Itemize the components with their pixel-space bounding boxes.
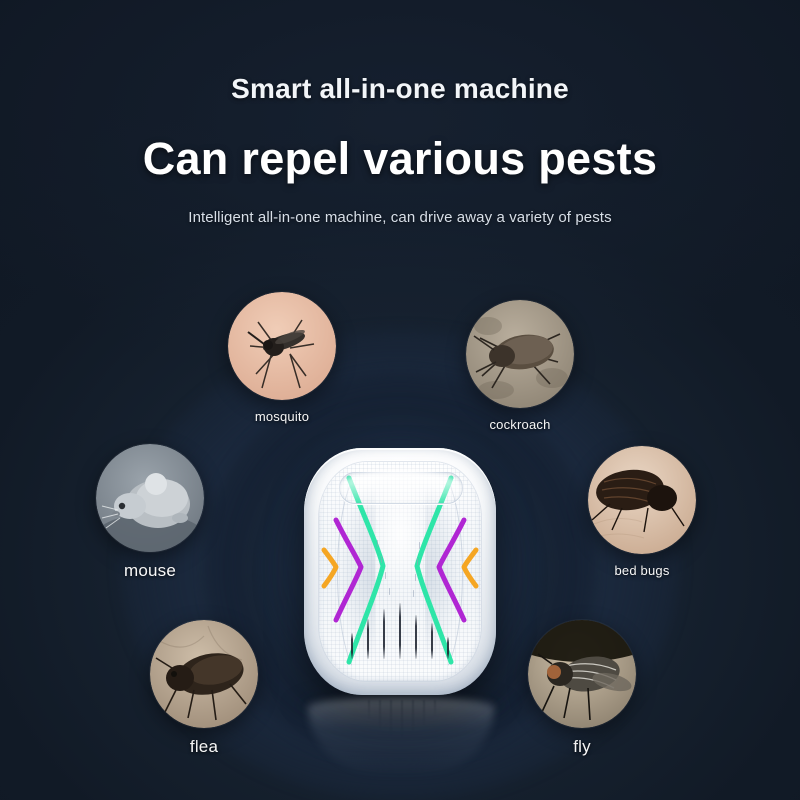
- device-face: [319, 462, 481, 681]
- flea-photo-icon: [150, 620, 258, 728]
- status-dash: [389, 588, 390, 595]
- reflected-vent-slit: [412, 700, 414, 732]
- pest-item-cockroach[interactable]: cockroach: [466, 300, 574, 432]
- vent-slit: [367, 619, 369, 659]
- reflection-vent: [368, 700, 436, 746]
- speaker-vent: [351, 601, 449, 659]
- status-dash: [413, 590, 414, 597]
- pest-item-mouse[interactable]: mouse: [96, 444, 204, 581]
- pest-item-bedbugs[interactable]: bed bugs: [588, 446, 696, 578]
- status-dashes: [371, 540, 429, 594]
- cockroach-photo-icon: [466, 300, 574, 408]
- pest-item-fly[interactable]: fly: [528, 620, 636, 757]
- reflected-vent-slit: [401, 700, 403, 740]
- device-reflection: [308, 697, 494, 779]
- header-block: Smart all-in-one machine Can repel vario…: [0, 74, 800, 226]
- device-shell: [304, 448, 496, 695]
- status-dash: [377, 540, 378, 547]
- pest-label: mouse: [96, 561, 204, 581]
- reflected-vent-slit: [434, 700, 436, 716]
- vent-slit: [399, 603, 401, 659]
- reflected-vent-slit: [368, 700, 370, 719]
- status-dash: [417, 558, 418, 565]
- pest-label: flea: [150, 737, 258, 757]
- status-dash: [381, 556, 382, 563]
- mosquito-photo-icon: [228, 292, 336, 400]
- page-title: Can repel various pests: [0, 135, 800, 184]
- ultrasonic-pest-repeller[interactable]: [300, 445, 500, 700]
- vent-slit: [447, 637, 449, 659]
- pest-label: mosquito: [228, 409, 336, 424]
- vent-slit: [351, 633, 353, 659]
- pest-item-mosquito[interactable]: mosquito: [228, 292, 336, 424]
- top-glare: [337, 470, 463, 508]
- status-dash: [415, 574, 416, 581]
- status-dash: [385, 572, 386, 579]
- vent-slit: [431, 623, 433, 659]
- pest-label: cockroach: [466, 417, 574, 432]
- reflected-vent-slit: [390, 700, 392, 736]
- chevron-orange-right-icon: [464, 550, 476, 586]
- product-banner: Smart all-in-one machine Can repel vario…: [0, 0, 800, 800]
- subtitle-text: Intelligent all-in-one machine, can driv…: [0, 209, 800, 226]
- pest-label: fly: [528, 737, 636, 757]
- mouse-photo-icon: [96, 444, 204, 552]
- reflected-vent-slit: [423, 700, 425, 726]
- vent-slit: [415, 615, 417, 659]
- bedbug-photo-icon: [588, 446, 696, 554]
- fly-photo-icon: [528, 620, 636, 728]
- chevron-orange-left-icon: [324, 550, 336, 586]
- reflected-vent-slit: [379, 700, 381, 729]
- pest-label: bed bugs: [588, 563, 696, 578]
- status-dash: [419, 542, 420, 549]
- vent-slit: [383, 609, 385, 659]
- kicker-text: Smart all-in-one machine: [0, 74, 800, 105]
- pest-item-flea[interactable]: flea: [150, 620, 258, 757]
